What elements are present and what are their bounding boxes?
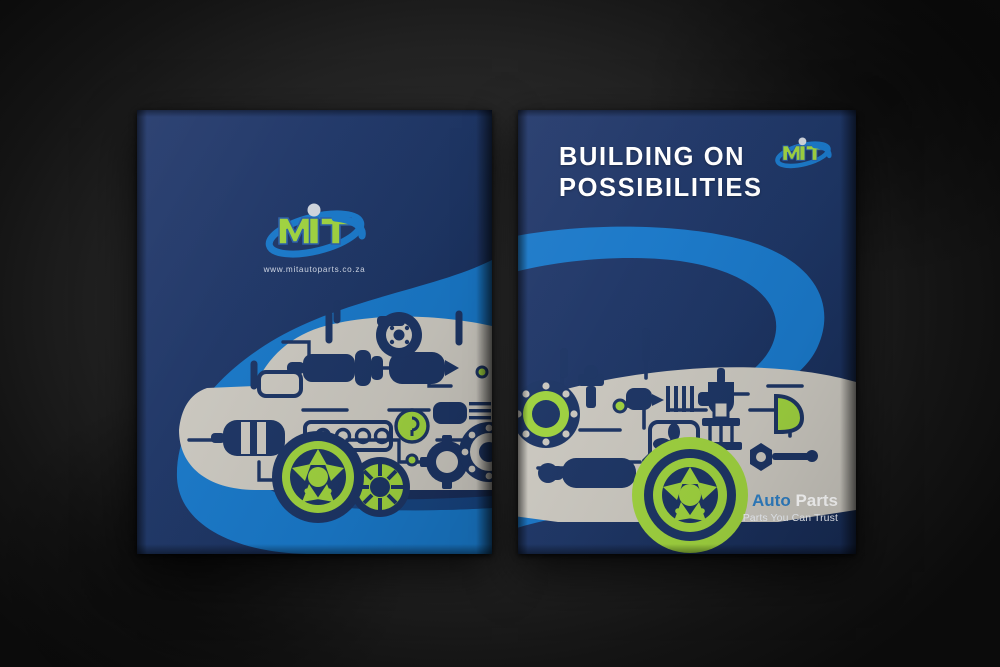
node-green-front [614,400,626,412]
brand-name: Auto Parts [743,491,838,510]
main-wheel-group [272,431,364,523]
brand-parts: Parts [795,491,838,510]
node-green-2 [477,367,487,377]
mit-logo-icon [774,134,832,170]
part-brake-disc [376,312,422,358]
mit-logo-small [774,134,832,170]
tagline-block: Auto Parts Parts You Can Trust [743,491,838,524]
cover-title-text: BUILDING ON POSSIBILITIES [559,143,763,202]
logo-dot [799,138,807,146]
logo-dot [307,204,320,217]
cover-title: BUILDING ON POSSIBILITIES [559,142,763,204]
brand-slogan: Parts You Can Trust [743,512,838,524]
website-url[interactable]: www.mitautoparts.co.za [137,265,492,274]
back-cover-book[interactable]: www.mitautoparts.co.za [137,110,492,554]
main-wheel-front [632,437,748,553]
back-cover-artwork [137,110,492,554]
front-cover-book[interactable]: BUILDING ON POSSIBILITIES Auto Parts Par… [518,110,856,554]
mockup-scene: www.mitautoparts.co.za [0,0,1000,667]
brand-auto: Auto [752,491,791,510]
mit-logo-icon [263,198,367,260]
mit-logo-large [263,198,367,260]
